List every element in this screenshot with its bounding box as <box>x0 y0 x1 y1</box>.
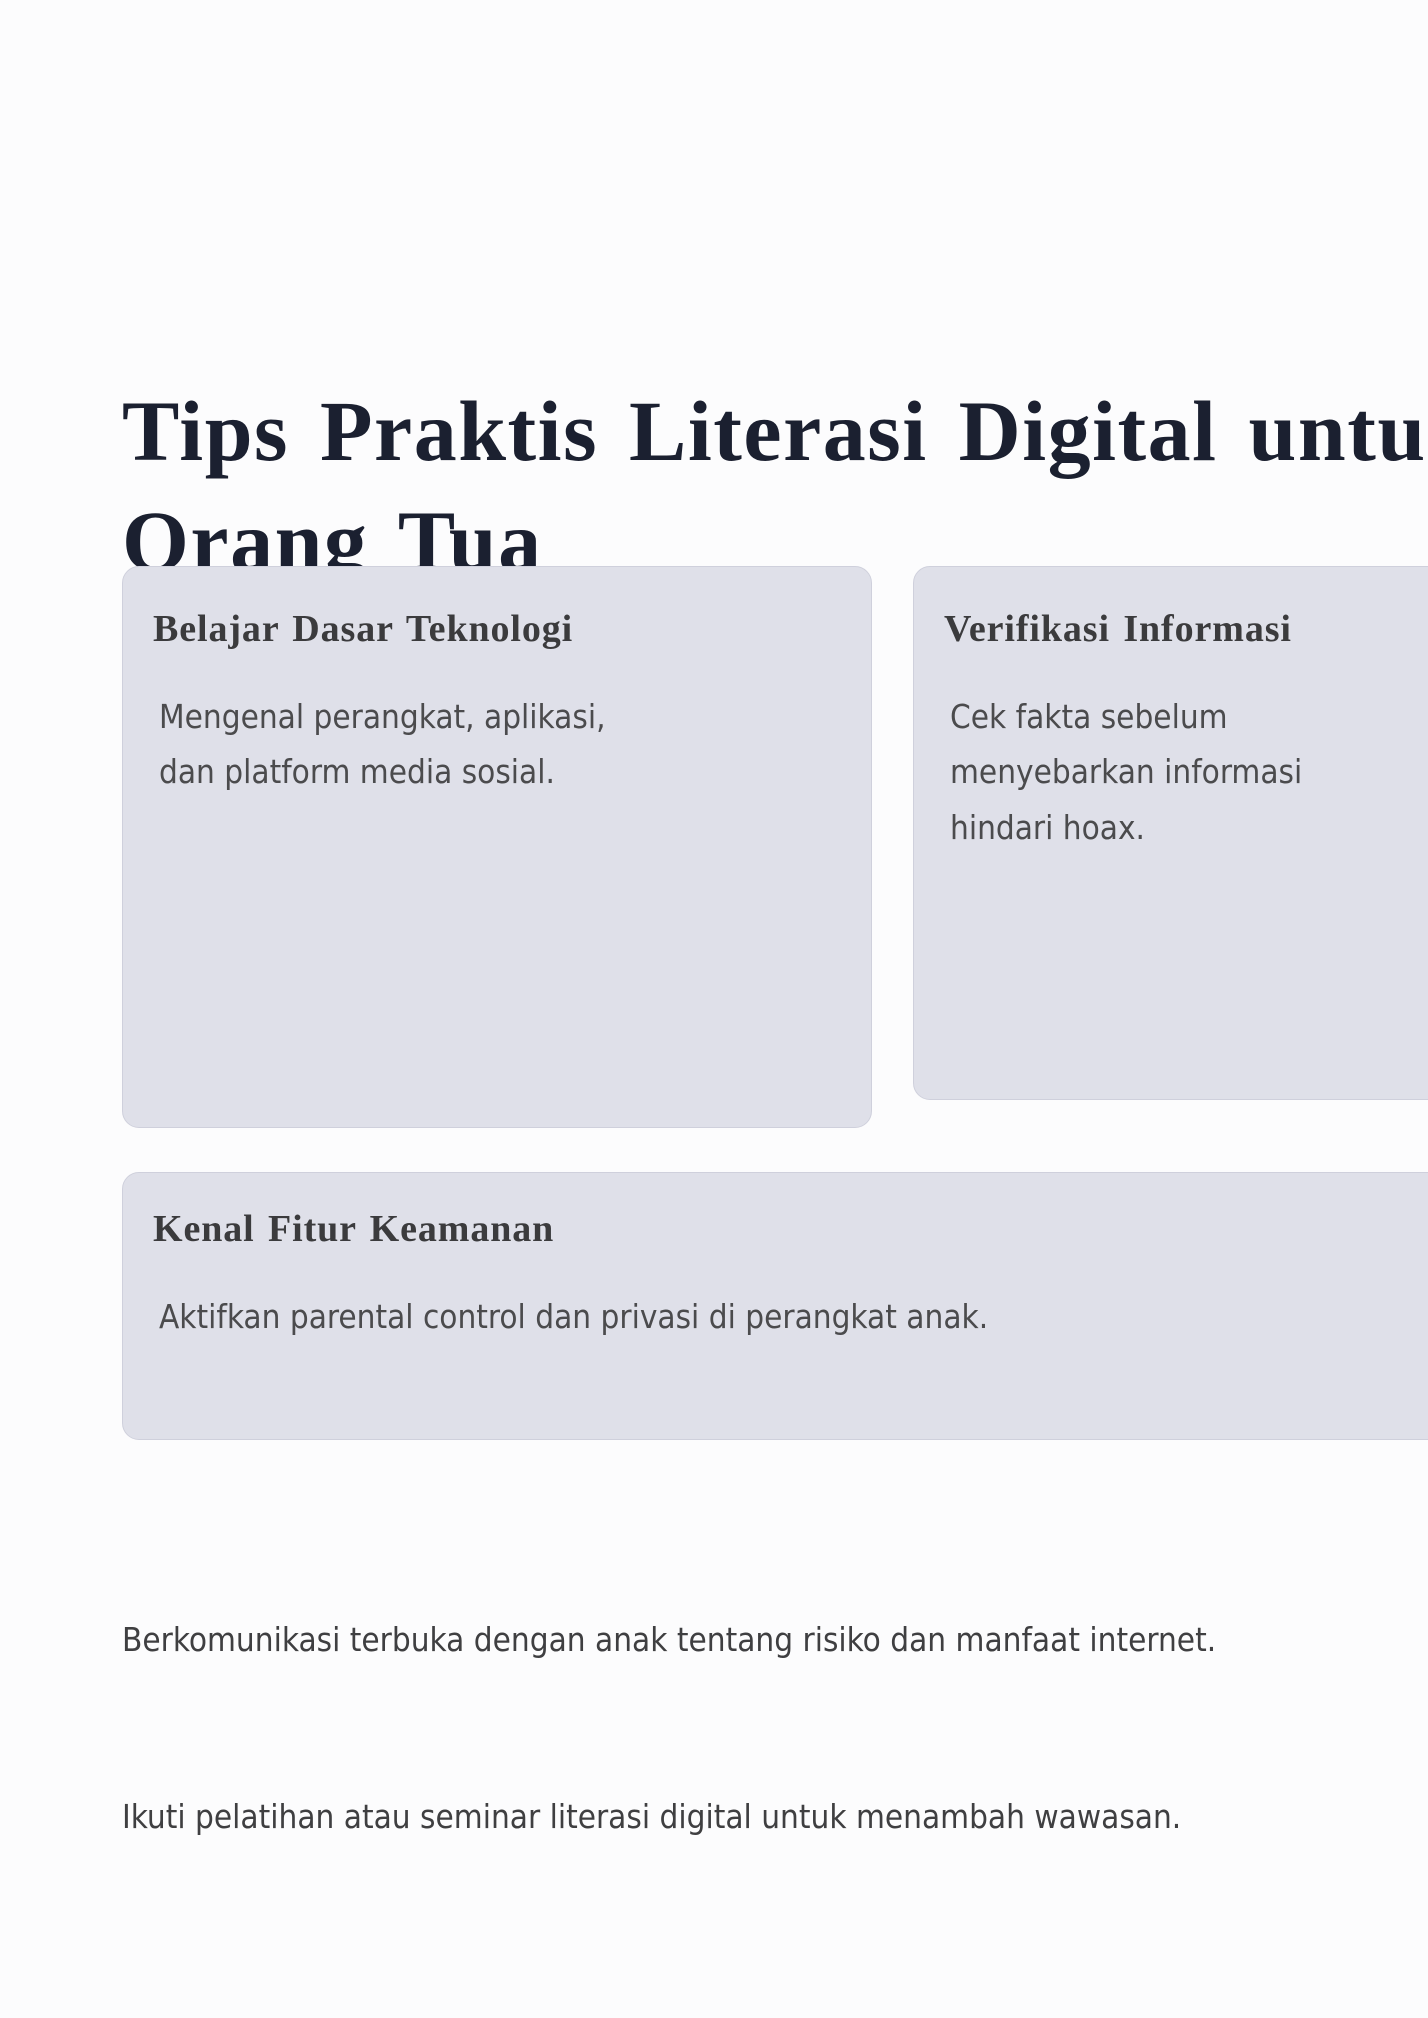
closing-paragraph: Berkomunikasi terbuka dengan anak tentan… <box>122 1494 1428 1964</box>
slide-canvas: Tips Praktis Literasi Digital untuk Oran… <box>0 0 1428 2018</box>
page-title: Tips Praktis Literasi Digital untuk Oran… <box>122 376 1428 596</box>
card-body: Mengenal perangkat, aplikasi, dan platfo… <box>159 689 871 800</box>
closing-line-2: Ikuti pelatihan atau seminar literasi di… <box>122 1788 1428 1847</box>
card-kenal-fitur-keamanan[interactable]: Kenal Fitur Keamanan Aktifkan parental c… <box>122 1172 1428 1440</box>
card-title: Verifikasi Informasi <box>944 607 1428 653</box>
closing-line-1: Berkomunikasi terbuka dengan anak tentan… <box>122 1611 1428 1670</box>
card-body: Aktifkan parental control dan privasi di… <box>159 1289 1428 1344</box>
card-title: Kenal Fitur Keamanan <box>153 1207 1428 1253</box>
card-verifikasi-informasi[interactable]: Verifikasi Informasi Cek fakta sebelum m… <box>913 566 1428 1100</box>
card-body: Cek fakta sebelum menyebarkan informasi … <box>950 689 1428 855</box>
card-belajar-dasar-teknologi[interactable]: Belajar Dasar Teknologi Mengenal perangk… <box>122 566 872 1128</box>
card-title: Belajar Dasar Teknologi <box>153 607 871 653</box>
